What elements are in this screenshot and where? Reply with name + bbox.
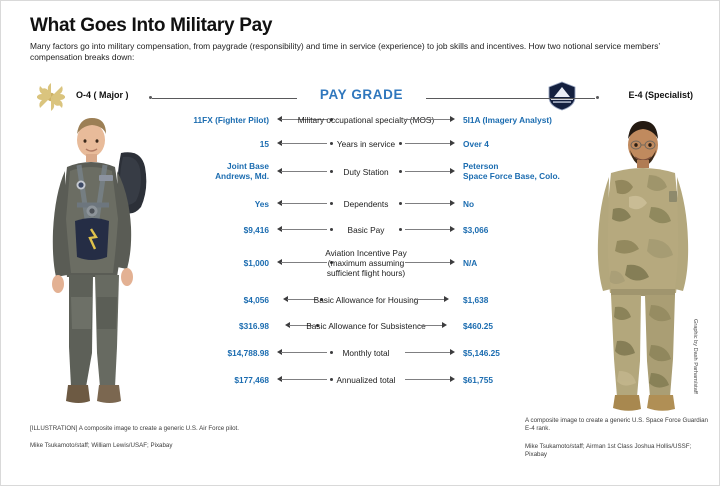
row-value-left: 15 (151, 139, 269, 149)
table-row: Yes Dependents No (151, 193, 581, 220)
row-value-left: $9,416 (151, 225, 269, 235)
row-value-right: $3,066 (463, 225, 581, 235)
table-row: $1,000 Aviation Incentive Pay (maximum a… (151, 246, 581, 289)
infographic-canvas: What Goes Into Military Pay Many factors… (0, 0, 720, 486)
row-value-right: N/A (463, 258, 581, 268)
graphic-credit-vertical: Graphic by Dash Parham/staff (692, 319, 698, 394)
row-value-right: No (463, 199, 581, 209)
connector-right (399, 199, 457, 208)
caption-left: [ILLUSTRATION] A composite image to crea… (30, 425, 240, 451)
row-value-right: $460.25 (463, 321, 581, 331)
row-value-left: Yes (151, 199, 269, 209)
row-value-right: Over 4 (463, 139, 581, 149)
table-row: 11FX (Fighter Pilot) Military occupation… (151, 115, 581, 133)
air-force-pilot-photo (37, 101, 169, 413)
table-row: $177,468 Annualized total $61,755 (151, 369, 581, 395)
row-value-right: $61,755 (463, 375, 581, 385)
paygrade-title: PAY GRADE (30, 87, 693, 102)
space-force-guardian-photo (587, 105, 699, 411)
deck-paragraph: Many factors go into military compensati… (30, 41, 695, 62)
table-row: $9,416 Basic Pay $3,066 (151, 220, 581, 246)
row-value-left: $316.98 (151, 321, 269, 331)
row-value-left: $1,000 (151, 258, 269, 268)
connector-right (409, 295, 451, 304)
row-value-right: Peterson Space Force Base, Colo. (463, 161, 581, 181)
row-value-right: 5I1A (Imagery Analyst) (463, 115, 581, 125)
connector-right (399, 139, 457, 148)
table-row: $4,056 Basic Allowance for Housing $1,63… (151, 289, 581, 315)
caption-right-credit: Mike Tsukamoto/staff; Airman 1st Class J… (525, 443, 710, 460)
caption-left-credit: Mike Tsukamoto/staff; William Lewis/USAF… (30, 442, 240, 450)
paygrade-line-dot-right (596, 96, 599, 99)
row-value-left: $4,056 (151, 295, 269, 305)
comparison-rows: 11FX (Fighter Pilot) Military occupation… (151, 115, 581, 395)
table-row: $316.98 Basic Allowance for Subsistence … (151, 315, 581, 341)
page-title: What Goes Into Military Pay (30, 15, 272, 37)
row-value-left: $177,468 (151, 375, 269, 385)
connector-right (399, 225, 457, 234)
table-row: 15 Years in service Over 4 (151, 133, 581, 161)
connector-right (399, 258, 457, 267)
row-value-right: $5,146.25 (463, 348, 581, 358)
connector-right (399, 115, 457, 124)
table-row: Joint Base Andrews, Md. Duty Station Pet… (151, 161, 581, 193)
row-value-left: Joint Base Andrews, Md. (151, 161, 269, 181)
connector-right (399, 348, 457, 357)
row-value-left: $14,788.98 (151, 348, 269, 358)
row-value-left: 11FX (Fighter Pilot) (151, 115, 269, 125)
connector-right (399, 375, 457, 384)
connector-right (399, 167, 457, 176)
caption-left-note: [ILLUSTRATION] A composite image to crea… (30, 425, 240, 433)
caption-right: A composite image to create a generic U.… (525, 417, 710, 460)
row-value-right: $1,638 (463, 295, 581, 305)
connector-right (413, 321, 449, 330)
paygrade-rule-right (426, 98, 595, 99)
caption-right-note: A composite image to create a generic U.… (525, 417, 710, 434)
table-row: $14,788.98 Monthly total $5,146.25 (151, 341, 581, 369)
